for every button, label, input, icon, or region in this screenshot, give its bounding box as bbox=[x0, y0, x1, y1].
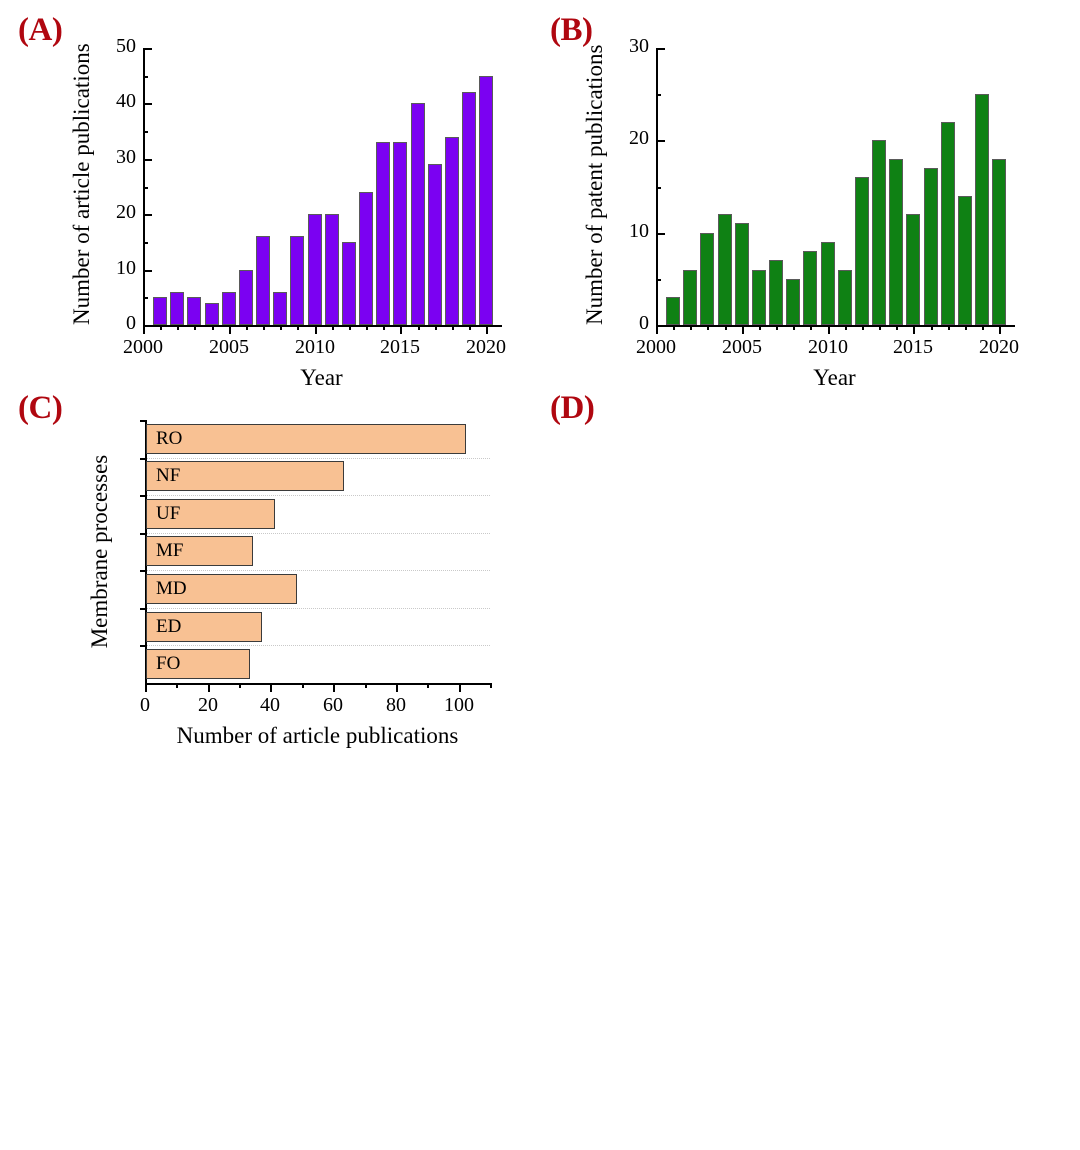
c-gridline bbox=[145, 645, 490, 646]
bar-category-label: MD bbox=[156, 578, 187, 600]
bar-MF: MF bbox=[146, 536, 253, 566]
bar-2011 bbox=[325, 214, 339, 325]
y-tick-major bbox=[143, 214, 152, 216]
bar-2014 bbox=[376, 142, 390, 325]
bar-2007 bbox=[256, 236, 270, 325]
x-axis-title: Year bbox=[202, 365, 442, 391]
y-tick-minor bbox=[143, 242, 148, 244]
bar-category-label: ED bbox=[156, 616, 181, 638]
y-tick-minor bbox=[656, 279, 661, 281]
bar-2004 bbox=[718, 214, 732, 325]
bar-2001 bbox=[666, 297, 680, 325]
x-tick-minor bbox=[160, 325, 162, 330]
bar-2003 bbox=[700, 233, 714, 325]
c-x-tick-minor bbox=[176, 683, 178, 688]
x-tick-minor bbox=[931, 325, 933, 330]
bar-2009 bbox=[290, 236, 304, 325]
y-tick-minor bbox=[656, 94, 661, 96]
x-tick-minor bbox=[452, 325, 454, 330]
c-x-tick-label: 40 bbox=[240, 694, 300, 717]
bar-2008 bbox=[273, 292, 287, 325]
x-tick-label: 2005 bbox=[710, 336, 774, 359]
x-tick-minor bbox=[965, 325, 967, 330]
x-tick-minor bbox=[418, 325, 420, 330]
y-axis-title: Number of patent publications bbox=[582, 48, 608, 325]
bar-2006 bbox=[752, 270, 766, 325]
x-tick-minor bbox=[332, 325, 334, 330]
x-tick-label: 2000 bbox=[111, 336, 175, 359]
x-tick-major bbox=[315, 325, 317, 334]
c-x-tick-minor bbox=[427, 683, 429, 688]
x-tick-major bbox=[656, 325, 658, 334]
x-tick-major bbox=[913, 325, 915, 334]
c-x-tick-major bbox=[270, 683, 272, 692]
c-x-tick-minor bbox=[490, 683, 492, 688]
x-tick-minor bbox=[673, 325, 675, 330]
bar-2015 bbox=[906, 214, 920, 325]
c-x-tick-major bbox=[145, 683, 147, 692]
y-tick-major bbox=[143, 270, 152, 272]
y-tick-major bbox=[656, 48, 665, 50]
x-tick-minor bbox=[845, 325, 847, 330]
bar-2002 bbox=[683, 270, 697, 325]
x-tick-minor bbox=[759, 325, 761, 330]
bar-2003 bbox=[187, 297, 201, 325]
bar-category-label: NF bbox=[156, 465, 180, 487]
c-y-tick bbox=[140, 458, 147, 460]
c-x-axis-title: Number of article publications bbox=[138, 723, 498, 749]
x-tick-label: 2020 bbox=[454, 336, 518, 359]
figure-canvas: (A) (B) (C) (D) Saudi ArabiaNetherlandsU… bbox=[0, 0, 1080, 750]
bar-category-label: MF bbox=[156, 540, 183, 562]
x-tick-major bbox=[229, 325, 231, 334]
c-x-axis-line bbox=[145, 683, 492, 685]
x-tick-label: 2015 bbox=[368, 336, 432, 359]
x-tick-minor bbox=[366, 325, 368, 330]
c-x-tick-label: 0 bbox=[115, 694, 175, 717]
x-tick-minor bbox=[263, 325, 265, 330]
c-x-tick-major bbox=[396, 683, 398, 692]
c-x-tick-major bbox=[459, 683, 461, 692]
bar-2004 bbox=[205, 303, 219, 325]
c-gridline bbox=[145, 570, 490, 571]
bar-2005 bbox=[222, 292, 236, 325]
x-tick-major bbox=[828, 325, 830, 334]
y-tick-major bbox=[656, 140, 665, 142]
bar-2019 bbox=[975, 94, 989, 325]
bar-2005 bbox=[735, 223, 749, 325]
y-tick-minor bbox=[143, 131, 148, 133]
c-y-tick bbox=[140, 495, 147, 497]
x-tick-major bbox=[400, 325, 402, 334]
x-tick-label: 2005 bbox=[197, 336, 261, 359]
y-tick-major bbox=[143, 159, 152, 161]
c-gridline bbox=[145, 533, 490, 534]
bar-MD: MD bbox=[146, 574, 297, 604]
c-gridline bbox=[145, 495, 490, 496]
c-y-tick bbox=[140, 645, 147, 647]
bar-2016 bbox=[924, 168, 938, 325]
x-axis-title: Year bbox=[715, 365, 955, 391]
bar-2006 bbox=[239, 270, 253, 325]
x-tick-minor bbox=[690, 325, 692, 330]
y-tick-major bbox=[656, 233, 665, 235]
bar-2011 bbox=[838, 270, 852, 325]
c-x-tick-label: 60 bbox=[303, 694, 363, 717]
y-axis-title: Number of article publications bbox=[69, 48, 95, 325]
c-x-tick-label: 20 bbox=[178, 694, 238, 717]
c-x-tick-major bbox=[208, 683, 210, 692]
bar-ED: ED bbox=[146, 612, 262, 642]
x-tick-major bbox=[742, 325, 744, 334]
bar-2015 bbox=[393, 142, 407, 325]
bar-NF: NF bbox=[146, 461, 344, 491]
bar-2012 bbox=[855, 177, 869, 325]
panel-c-plot-area bbox=[145, 800, 490, 1063]
bar-2010 bbox=[821, 242, 835, 325]
x-tick-minor bbox=[948, 325, 950, 330]
x-tick-minor bbox=[177, 325, 179, 330]
bar-2008 bbox=[786, 279, 800, 325]
bar-2017 bbox=[941, 122, 955, 325]
c-y-tick bbox=[140, 570, 147, 572]
x-tick-minor bbox=[349, 325, 351, 330]
y-tick-major bbox=[143, 48, 152, 50]
x-tick-major bbox=[143, 325, 145, 334]
bar-2002 bbox=[170, 292, 184, 325]
bar-2013 bbox=[872, 140, 886, 325]
bar-RO: RO bbox=[146, 424, 466, 454]
c-x-tick-label: 80 bbox=[366, 694, 426, 717]
c-x-tick-minor bbox=[302, 683, 304, 688]
bar-UF: UF bbox=[146, 499, 275, 529]
x-tick-minor bbox=[280, 325, 282, 330]
x-tick-label: 2010 bbox=[283, 336, 347, 359]
x-tick-label: 2000 bbox=[624, 336, 688, 359]
x-tick-major bbox=[486, 325, 488, 334]
c-y-tick bbox=[140, 533, 147, 535]
bar-category-label: RO bbox=[156, 428, 182, 450]
bar-category-label: UF bbox=[156, 503, 180, 525]
y-tick-minor bbox=[143, 187, 148, 189]
x-tick-minor bbox=[793, 325, 795, 330]
x-axis-line bbox=[656, 325, 1015, 327]
y-tick-minor bbox=[656, 187, 661, 189]
bar-2014 bbox=[889, 159, 903, 325]
y-tick-major bbox=[143, 103, 152, 105]
panel-c-tag: (C) bbox=[18, 392, 62, 425]
c-x-tick-label: 100 bbox=[429, 694, 489, 717]
bar-category-label: FO bbox=[156, 653, 180, 675]
x-tick-minor bbox=[982, 325, 984, 330]
x-tick-minor bbox=[383, 325, 385, 330]
c-x-tick-minor bbox=[239, 683, 241, 688]
bar-2019 bbox=[462, 92, 476, 325]
bar-FO: FO bbox=[146, 649, 250, 679]
bar-2018 bbox=[958, 196, 972, 325]
bar-2010 bbox=[308, 214, 322, 325]
bar-2001 bbox=[153, 297, 167, 325]
c-y-tick bbox=[140, 608, 147, 610]
c-x-tick-major bbox=[333, 683, 335, 692]
panel-d: (D) Saudi ArabiaNetherlandsUSASouth Kore… bbox=[540, 380, 1080, 750]
c-gridline bbox=[145, 608, 490, 609]
bar-2012 bbox=[342, 242, 356, 325]
panel-b-tag: (B) bbox=[550, 14, 593, 47]
bar-2007 bbox=[769, 260, 783, 325]
bar-2009 bbox=[803, 251, 817, 325]
x-tick-label: 2015 bbox=[881, 336, 945, 359]
bar-2013 bbox=[359, 192, 373, 325]
x-tick-minor bbox=[435, 325, 437, 330]
x-tick-minor bbox=[725, 325, 727, 330]
x-tick-minor bbox=[776, 325, 778, 330]
x-tick-minor bbox=[246, 325, 248, 330]
bar-2020 bbox=[992, 159, 1006, 325]
x-tick-minor bbox=[879, 325, 881, 330]
x-tick-minor bbox=[469, 325, 471, 330]
y-tick-minor bbox=[143, 76, 148, 78]
x-tick-label: 2020 bbox=[967, 336, 1031, 359]
x-tick-minor bbox=[810, 325, 812, 330]
panel-a-tag: (A) bbox=[18, 14, 62, 47]
bar-2016 bbox=[411, 103, 425, 325]
x-tick-label: 2010 bbox=[796, 336, 860, 359]
bar-2018 bbox=[445, 137, 459, 325]
x-axis-line bbox=[143, 325, 502, 327]
x-tick-minor bbox=[707, 325, 709, 330]
c-y-tick bbox=[140, 420, 147, 422]
c-x-tick-minor bbox=[365, 683, 367, 688]
x-tick-minor bbox=[297, 325, 299, 330]
panel-d-tag: (D) bbox=[550, 392, 594, 425]
y-tick-minor bbox=[143, 297, 148, 299]
bar-2017 bbox=[428, 164, 442, 325]
x-tick-minor bbox=[212, 325, 214, 330]
x-tick-minor bbox=[862, 325, 864, 330]
x-tick-minor bbox=[194, 325, 196, 330]
c-y-axis-title: Membrane processes bbox=[87, 420, 113, 683]
x-tick-minor bbox=[896, 325, 898, 330]
c-gridline bbox=[145, 458, 490, 459]
bar-2020 bbox=[479, 76, 493, 325]
x-tick-major bbox=[999, 325, 1001, 334]
